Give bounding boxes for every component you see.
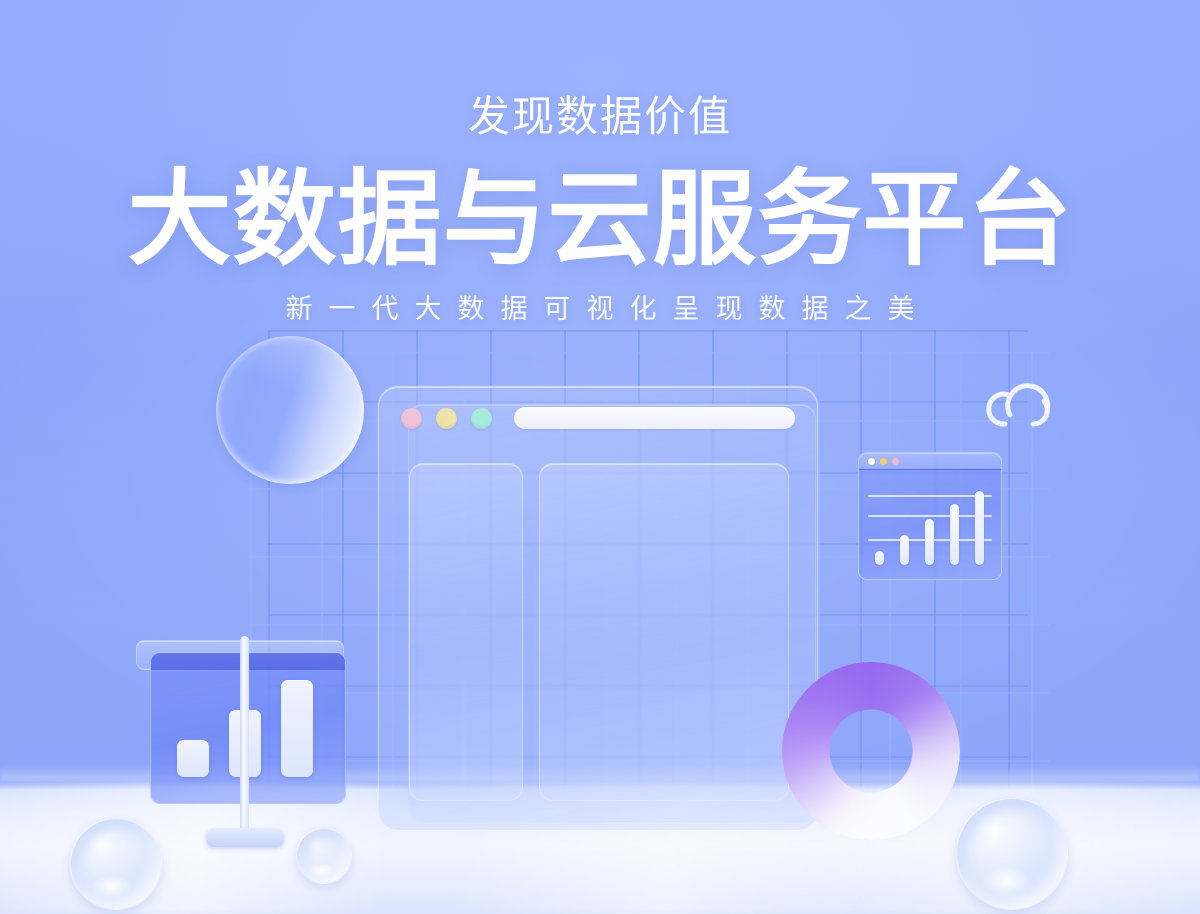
banner-canvas: 发现数据价值 大数据与云服务平台 新一代大数据可视化呈现数据之美 xyxy=(0,0,1200,914)
address-bar[interactable] xyxy=(514,407,795,429)
content-panel[interactable] xyxy=(539,463,789,801)
gradient-torus xyxy=(782,662,960,840)
minimize-dot[interactable] xyxy=(436,408,457,429)
analytics-card-plot xyxy=(859,470,1001,579)
analytics-card[interactable] xyxy=(858,452,1002,580)
maximize-dot[interactable] xyxy=(471,408,492,429)
bar-2 xyxy=(900,535,909,565)
gridline-3 xyxy=(868,495,992,497)
glass-disc xyxy=(216,336,364,484)
monitor-bar-A xyxy=(177,740,209,777)
monitor-stand-pole xyxy=(240,636,249,838)
bar-4 xyxy=(950,504,959,565)
cloud-outline-icon xyxy=(978,368,1060,430)
gradient-torus-sheen xyxy=(782,662,960,840)
card-dot-white[interactable] xyxy=(868,458,875,465)
card-dot-pink[interactable] xyxy=(892,458,899,465)
subtitle-text: 新一代大数据可视化呈现数据之美 xyxy=(0,296,1200,323)
glass-sphere-left xyxy=(70,818,162,910)
window-titlebar xyxy=(379,387,817,449)
sidebar-panel[interactable] xyxy=(409,463,523,801)
close-dot[interactable] xyxy=(401,408,422,429)
glass-sphere-mid xyxy=(296,828,352,884)
analytics-card-titlebar xyxy=(859,453,1001,470)
glass-sphere-right xyxy=(956,798,1068,910)
bar-5 xyxy=(975,491,984,565)
monitor-stand-base xyxy=(206,828,284,847)
page-title: 大数据与云服务平台 xyxy=(0,168,1200,272)
bar-1 xyxy=(875,551,884,565)
bar-3 xyxy=(925,519,934,565)
monitor-bar-C xyxy=(281,680,313,777)
eyebrow-text: 发现数据价值 xyxy=(0,96,1200,138)
gridline-2 xyxy=(868,515,992,517)
card-dot-yellow[interactable] xyxy=(880,458,887,465)
browser-window[interactable] xyxy=(378,386,818,830)
